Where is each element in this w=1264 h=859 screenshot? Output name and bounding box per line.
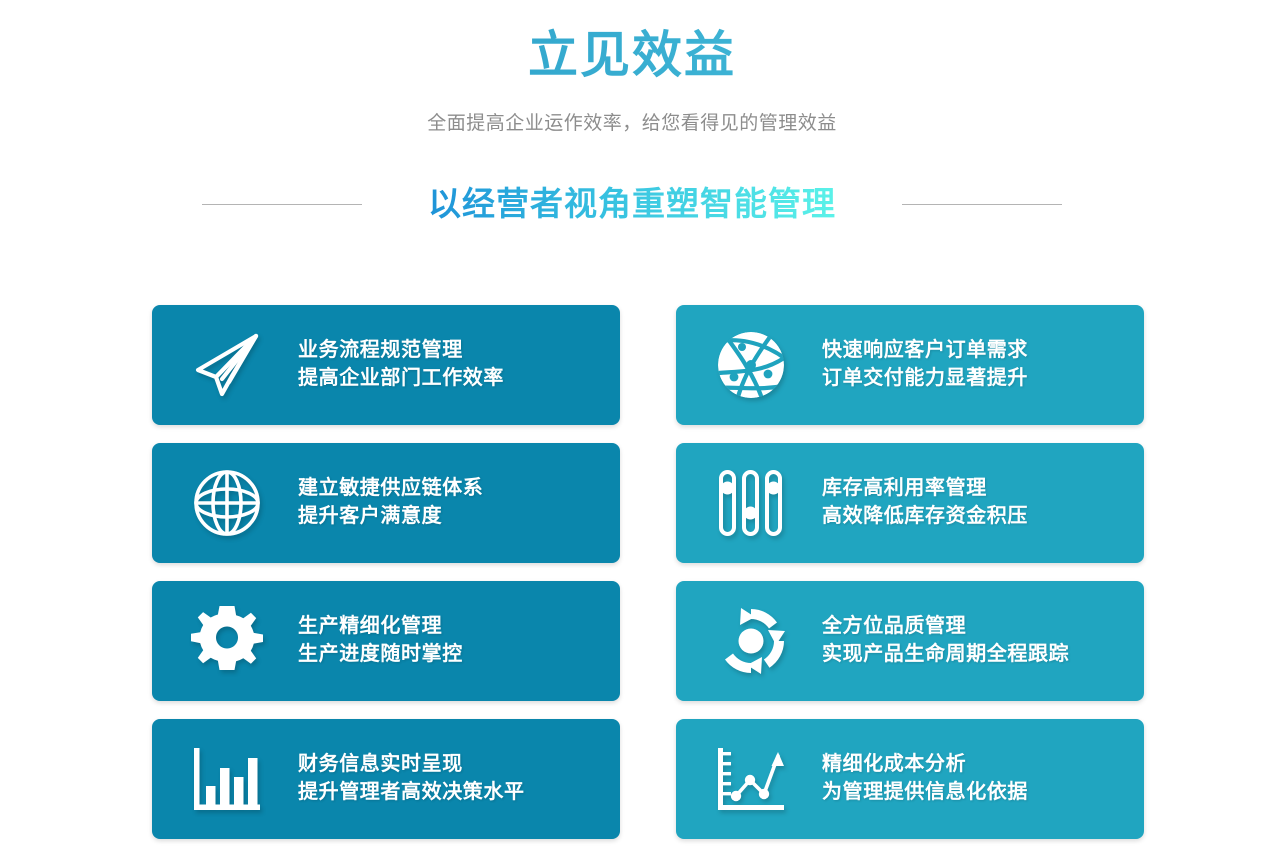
benefit-card-text: 精细化成本分析为管理提供信息化依据 (822, 751, 1028, 806)
benefit-card-line1: 快速响应客户订单需求 (822, 339, 1028, 361)
benefit-card[interactable]: 生产精细化管理生产进度随时掌控 (152, 581, 620, 701)
benefit-card-line1: 生产精细化管理 (298, 615, 442, 637)
bar-chart-icon (188, 744, 266, 814)
benefit-card-line1: 建立敏捷供应链体系 (298, 477, 483, 499)
benefit-card[interactable]: 快速响应客户订单需求订单交付能力显著提升 (676, 305, 1144, 425)
benefit-card-line2: 提升客户满意度 (298, 503, 483, 531)
section-heading-group: 以经营者视角重塑智能管理 (0, 186, 1264, 222)
gear-icon (188, 606, 266, 676)
benefit-card-text: 建立敏捷供应链体系提升客户满意度 (298, 475, 483, 530)
refresh-cycle-icon (712, 606, 790, 676)
benefits-page: 立见效益 全面提高企业运作效率，给您看得见的管理效益 以经营者视角重塑智能管理 … (0, 0, 1264, 859)
benefit-card-line1: 库存高利用率管理 (822, 477, 987, 499)
benefit-card-text: 快速响应客户订单需求订单交付能力显著提升 (822, 337, 1028, 392)
line-chart-icon (712, 744, 790, 814)
benefit-card-line1: 全方位品质管理 (822, 615, 966, 637)
network-sphere-icon (712, 330, 790, 400)
benefit-card-line1: 精细化成本分析 (822, 753, 966, 775)
benefit-card-line2: 生产进度随时掌控 (298, 641, 463, 669)
benefit-card-grid: 业务流程规范管理提高企业部门工作效率快速响应客户订单需求订单交付能力显著提升建立… (152, 305, 1144, 839)
sliders-icon (712, 468, 790, 538)
page-title: 立见效益 (0, 0, 1264, 80)
benefit-card-text: 业务流程规范管理提高企业部门工作效率 (298, 337, 504, 392)
paper-plane-icon (188, 330, 266, 400)
benefit-card[interactable]: 全方位品质管理实现产品生命周期全程跟踪 (676, 581, 1144, 701)
benefit-card[interactable]: 业务流程规范管理提高企业部门工作效率 (152, 305, 620, 425)
divider-line-right (902, 204, 1062, 205)
benefit-card-line2: 提升管理者高效决策水平 (298, 779, 525, 807)
benefit-card-text: 生产精细化管理生产进度随时掌控 (298, 613, 463, 668)
benefit-card[interactable]: 建立敏捷供应链体系提升客户满意度 (152, 443, 620, 563)
benefit-card-line2: 订单交付能力显著提升 (822, 365, 1028, 393)
benefit-card[interactable]: 财务信息实时呈现提升管理者高效决策水平 (152, 719, 620, 839)
benefit-card-line2: 高效降低库存资金积压 (822, 503, 1028, 531)
benefit-card-line2: 提高企业部门工作效率 (298, 365, 504, 393)
divider-line-left (202, 204, 362, 205)
benefit-card-line1: 财务信息实时呈现 (298, 753, 463, 775)
benefit-card-line2: 实现产品生命周期全程跟踪 (822, 641, 1069, 669)
benefit-card[interactable]: 库存高利用率管理高效降低库存资金积压 (676, 443, 1144, 563)
benefit-card-text: 全方位品质管理实现产品生命周期全程跟踪 (822, 613, 1069, 668)
page-subtitle: 全面提高企业运作效率，给您看得见的管理效益 (0, 108, 1264, 135)
globe-icon (188, 468, 266, 538)
section-title: 以经营者视角重塑智能管理 (428, 186, 836, 222)
benefit-card[interactable]: 精细化成本分析为管理提供信息化依据 (676, 719, 1144, 839)
benefit-card-text: 库存高利用率管理高效降低库存资金积压 (822, 475, 1028, 530)
benefit-card-line1: 业务流程规范管理 (298, 339, 463, 361)
benefit-card-line2: 为管理提供信息化依据 (822, 779, 1028, 807)
benefit-card-text: 财务信息实时呈现提升管理者高效决策水平 (298, 751, 525, 806)
